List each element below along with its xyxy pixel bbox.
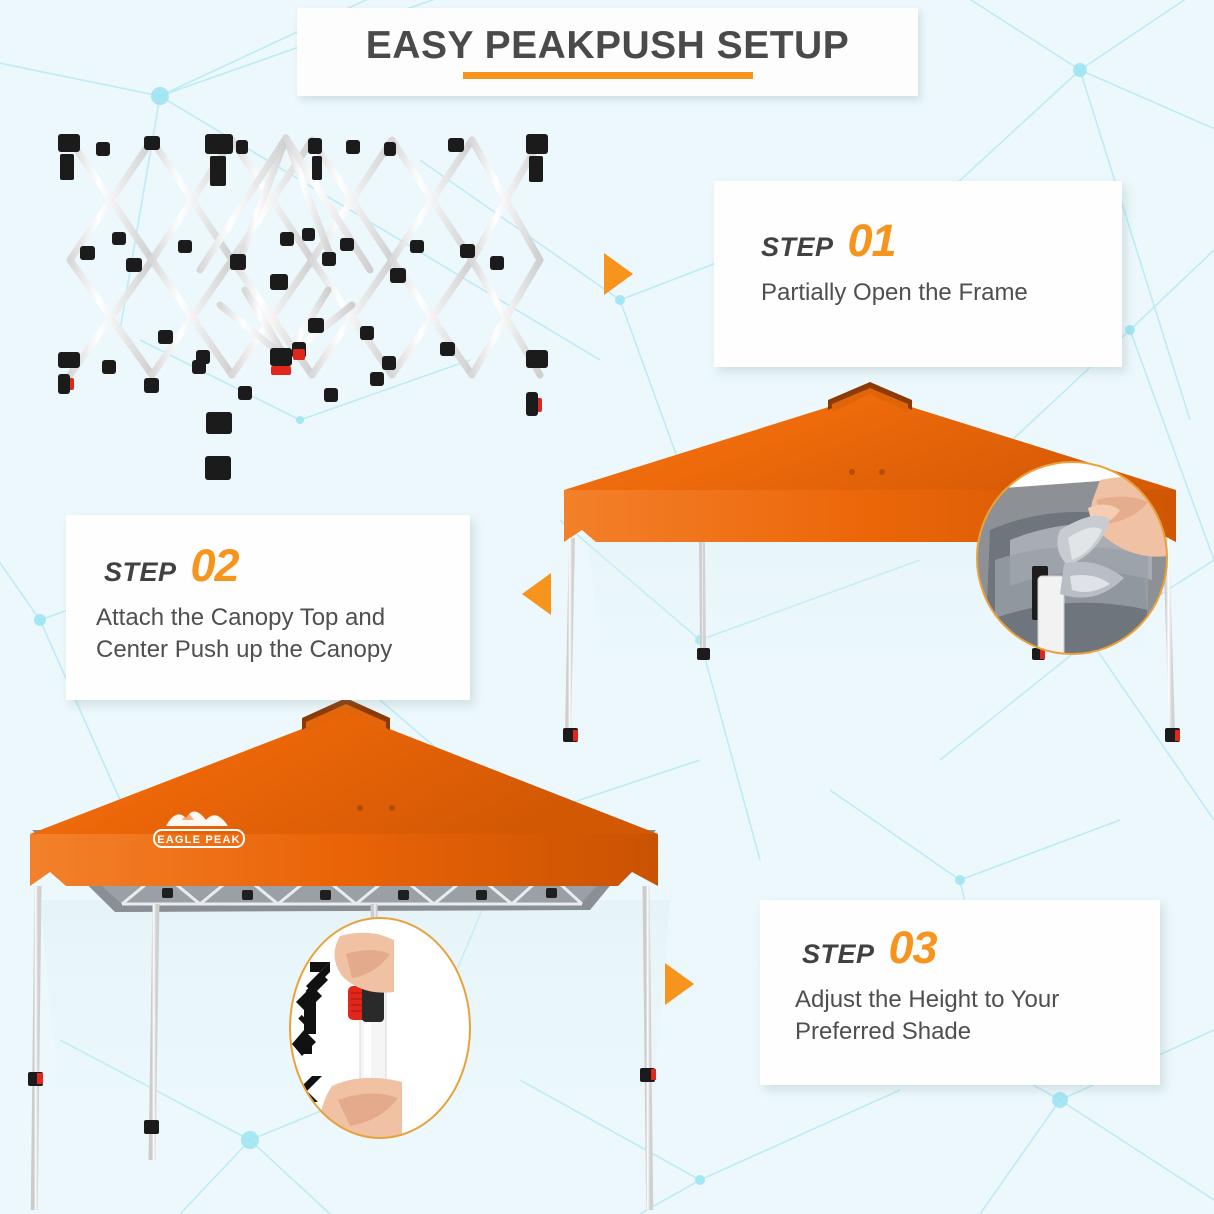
svg-text:EAGLE PEAK: EAGLE PEAK bbox=[157, 834, 241, 846]
step-description: Attach the Canopy Top and Center Push up… bbox=[96, 602, 470, 666]
step-number: 03 bbox=[889, 928, 937, 969]
step-description: Partially Open the Frame bbox=[761, 277, 1122, 309]
step-description: Adjust the Height to Your Preferred Shad… bbox=[795, 984, 1160, 1048]
step-number: 01 bbox=[848, 221, 896, 262]
frame-illustration bbox=[40, 120, 580, 520]
step-card-02: STEP 02 Attach the Canopy Top and Center… bbox=[66, 515, 470, 700]
step-label: STEP bbox=[761, 232, 834, 263]
title-underline bbox=[463, 72, 753, 79]
step-number: 02 bbox=[191, 546, 239, 587]
step-card-01: STEP 01 Partially Open the Frame bbox=[714, 181, 1122, 367]
page-title: EASY PEAKPUSH SETUP bbox=[366, 26, 849, 65]
step-heading: STEP 03 bbox=[802, 928, 1160, 970]
step-label: STEP bbox=[104, 557, 177, 588]
arrow-right-icon bbox=[604, 253, 633, 295]
infographic-canvas: EAGLE PEAK bbox=[0, 0, 1214, 1214]
step-card-03: STEP 03 Adjust the Height to Your Prefer… bbox=[760, 900, 1160, 1085]
canopy-final-illustration: EAGLE PEAK bbox=[10, 690, 710, 1210]
arrow-left-icon bbox=[522, 573, 551, 615]
title-banner: EASY PEAKPUSH SETUP bbox=[297, 8, 918, 96]
step-heading: STEP 01 bbox=[761, 221, 1122, 263]
step-heading: STEP 02 bbox=[104, 546, 470, 588]
arrow-right-icon bbox=[665, 963, 694, 1005]
step-label: STEP bbox=[802, 939, 875, 970]
